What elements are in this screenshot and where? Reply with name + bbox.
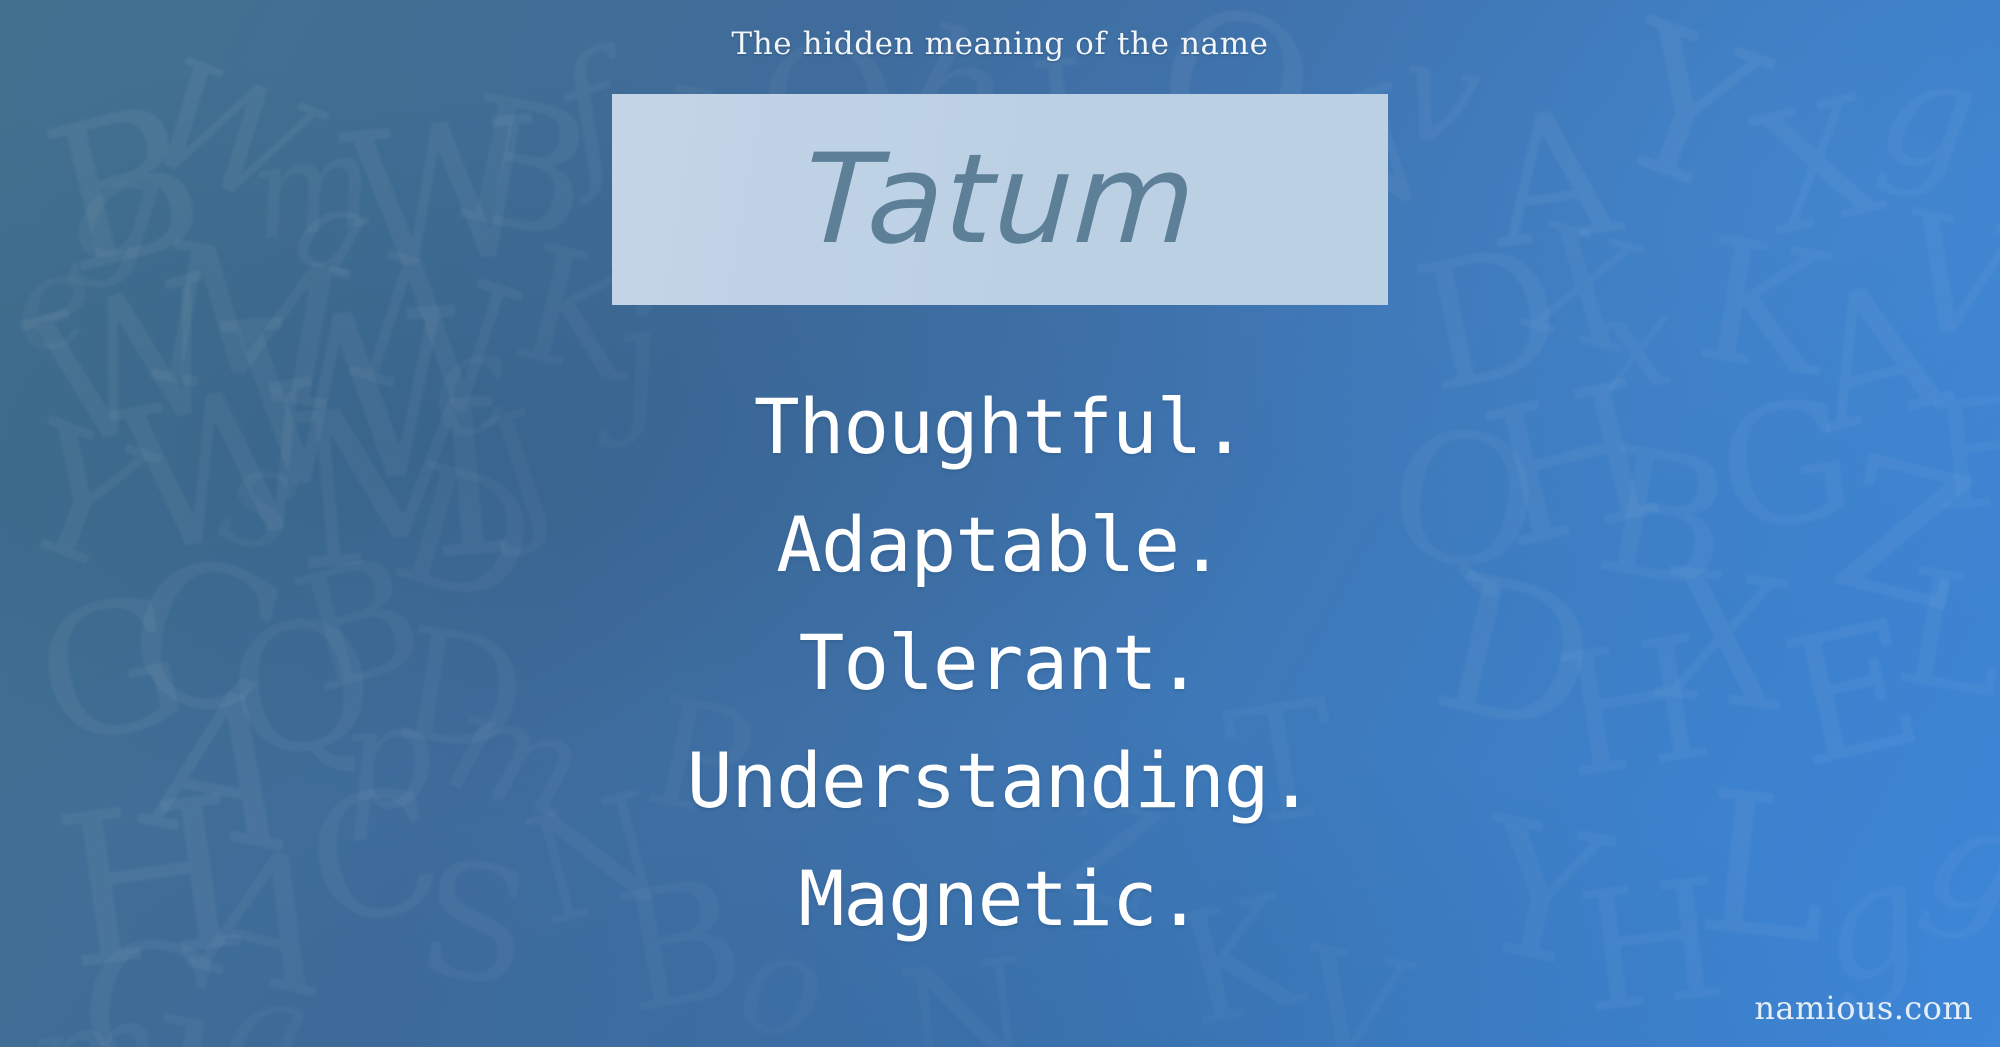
name-meaning-card: BWmaWBfHOhLQNvAYXggWMWNcKjDXxKAVYWsMDJQH…: [0, 0, 2000, 1047]
background-letter: e: [10, 246, 97, 357]
trait-list: Thoughtful. Adaptable. Tolerant. Underst…: [0, 368, 2000, 958]
background-letter: N: [893, 952, 1038, 1047]
trait-item: Adaptable.: [0, 486, 2000, 604]
name-title: Tatum: [606, 94, 1393, 305]
background-letter: a: [287, 177, 381, 286]
background-letter: A: [1481, 102, 1626, 258]
page-tagline: The hidden meaning of the name: [0, 26, 2000, 62]
background-letter: X: [1746, 88, 1892, 244]
background-letter: g: [64, 145, 168, 270]
background-letter: K: [1690, 231, 1837, 385]
background-letter: W: [338, 110, 548, 282]
trait-item: Thoughtful.: [0, 368, 2000, 486]
background-letter: a: [219, 967, 322, 1047]
background-letter: X: [1516, 218, 1652, 363]
background-letter: B: [35, 95, 216, 286]
trait-item: Tolerant.: [0, 604, 2000, 722]
background-letter: g: [1872, 49, 1984, 181]
background-letter: B: [447, 88, 602, 252]
background-letter: m: [22, 990, 171, 1047]
background-letter: W: [133, 50, 321, 219]
background-letter: m: [243, 127, 380, 247]
trait-item: Magnetic.: [0, 840, 2000, 958]
trait-item: Understanding.: [0, 722, 2000, 840]
site-watermark: namious.com: [1754, 989, 1973, 1027]
background-letter: V: [1888, 204, 2000, 353]
